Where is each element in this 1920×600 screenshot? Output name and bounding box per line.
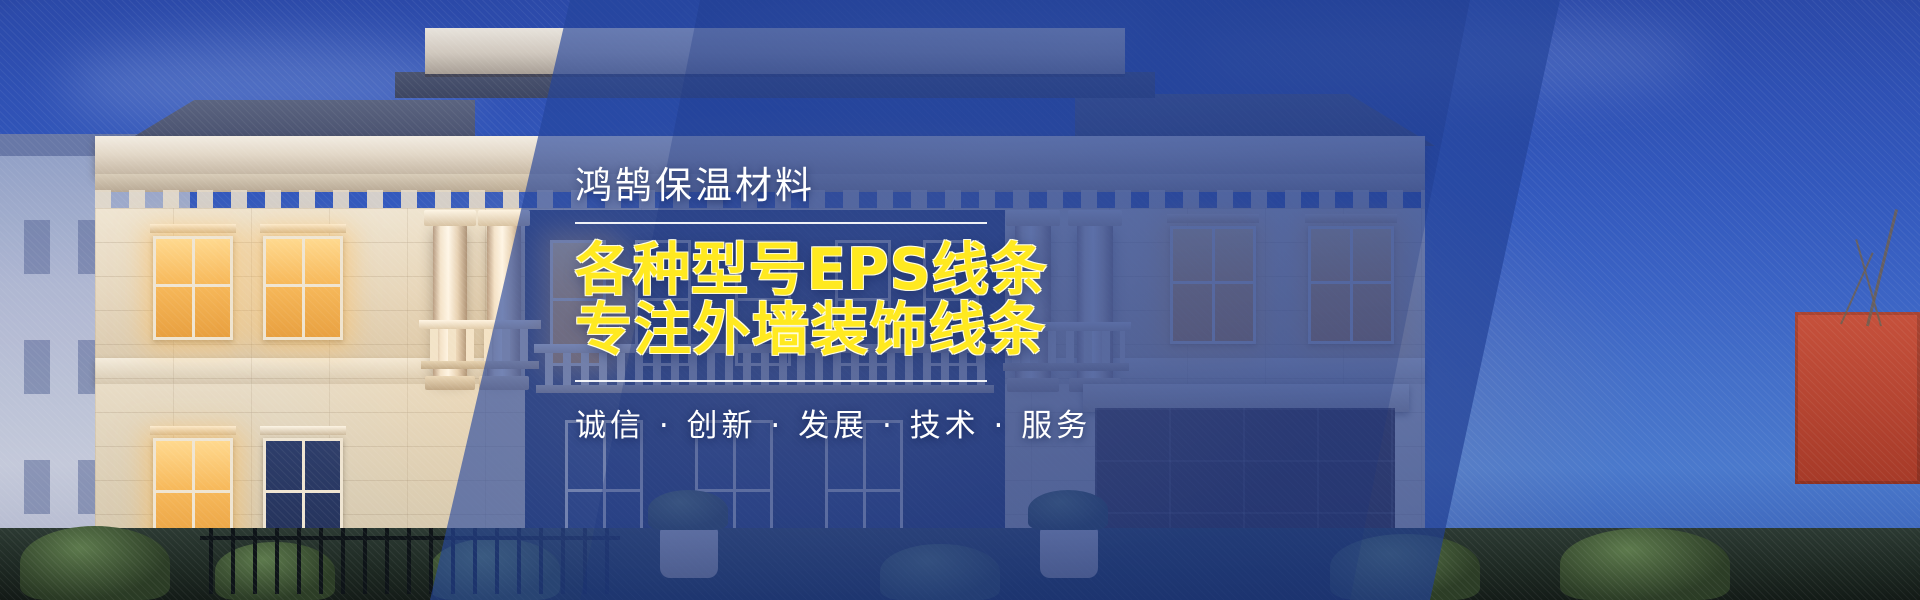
window-lit (263, 236, 343, 340)
headline: 各种型号EPS线条 专注外墙装饰线条 (575, 240, 1175, 360)
divider-top (575, 222, 987, 224)
divider-bottom (575, 380, 987, 382)
brand-subtitle: 鸿鹄保温材料 (575, 155, 1175, 209)
shrub (1560, 528, 1730, 600)
headline-line-2: 专注外墙装饰线条 (575, 300, 1175, 360)
balustrade (425, 328, 535, 362)
headline-line-1: 各种型号EPS线条 (575, 240, 1175, 300)
window-lit (1308, 226, 1394, 344)
iron-fence (200, 528, 620, 594)
window-lit (153, 236, 233, 340)
shrub (20, 526, 170, 600)
banner-content: 鸿鹄保温材料 各种型号EPS线条 专注外墙装饰线条 诚信 · 创新 · 发展 ·… (575, 0, 1175, 600)
tagline: 诚信 · 创新 · 发展 · 技术 · 服务 (575, 400, 1175, 445)
shrub (1330, 534, 1480, 600)
red-side-panel (1795, 312, 1920, 484)
promo-banner: 鸿鹄保温材料 各种型号EPS线条 专注外墙装饰线条 诚信 · 创新 · 发展 ·… (0, 0, 1920, 600)
window-lit (1170, 226, 1256, 344)
